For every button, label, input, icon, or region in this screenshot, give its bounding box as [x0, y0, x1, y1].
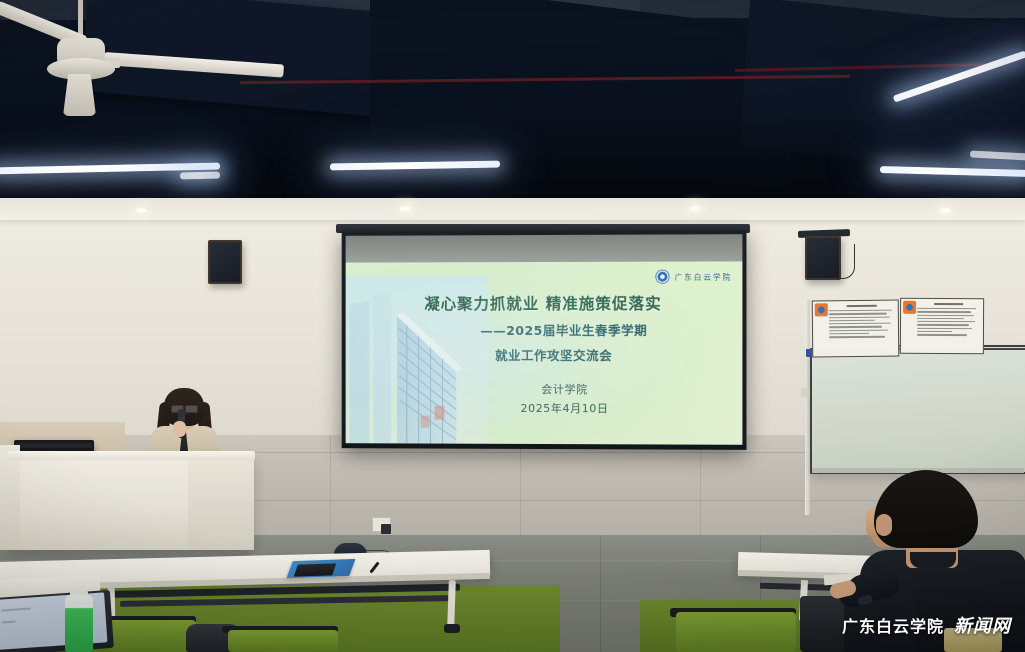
- plug-adapter: [381, 524, 391, 534]
- handheld-microphone-icon: [177, 409, 186, 417]
- ceiling-soffit: [0, 198, 1025, 220]
- slide-logo: 广东白云学院: [655, 269, 732, 283]
- presentation-slide: 广东白云学院 凝心聚力抓就业 精准施策促落实 ——2025届毕业生春季学期 就业…: [346, 261, 743, 445]
- university-emblem-icon: [655, 270, 669, 284]
- official-seal-icon: [815, 303, 828, 316]
- podium-top-surface: [8, 451, 255, 460]
- presenter-hand: [173, 421, 186, 437]
- green-drink-bottle[interactable]: [65, 595, 93, 652]
- slide-subtitle-line1: ——2025届毕业生春季学期: [346, 320, 743, 339]
- photo-scene: 广东白云学院 凝心聚力抓就业 精准施策促落实 ——2025届毕业生春季学期 就业…: [0, 0, 1025, 652]
- tile-seam: [520, 435, 521, 545]
- screen-blank-area: [346, 234, 743, 263]
- green-chair[interactable]: [676, 612, 796, 652]
- whiteboard[interactable]: [810, 348, 1025, 474]
- tabletop-item: [944, 628, 1002, 652]
- attendee-collar: [910, 552, 956, 568]
- recessed-light-icon: [400, 206, 411, 211]
- notice-text-lines: [829, 305, 895, 340]
- ceiling: [0, 0, 1025, 215]
- seated-attendee-figure: [836, 470, 1025, 652]
- speaker-cable: [836, 244, 855, 279]
- eyeglasses-icon: [182, 407, 186, 408]
- attendee-ear: [876, 514, 892, 536]
- floor-seam: [600, 535, 601, 652]
- slide-organization: 会计学院: [367, 381, 742, 398]
- podium-back-panel: [0, 445, 20, 550]
- fluorescent-tube-light: [180, 172, 220, 180]
- slide-text-block: 凝心聚力抓就业 精准施策促落实 ——2025届毕业生春季学期 就业工作攻坚交流会: [346, 292, 743, 365]
- posted-notice-left: [812, 300, 900, 358]
- green-chair[interactable]: [108, 620, 196, 652]
- eyeglasses-icon: [185, 405, 198, 413]
- slide-date: 2025年4月10日: [367, 400, 742, 417]
- slide-subtitle-line2: 就业工作攻坚交流会: [346, 345, 743, 364]
- slide-title: 凝心聚力抓就业 精准施策促落实: [346, 292, 743, 315]
- posted-notice-right: [900, 298, 984, 354]
- slide-logo-text: 广东白云学院: [675, 271, 733, 282]
- recessed-light-icon: [690, 206, 701, 211]
- black-tablet[interactable]: [294, 563, 336, 576]
- tile-seam: [700, 435, 701, 545]
- notice-text-lines: [917, 303, 980, 338]
- official-seal-icon: [903, 301, 916, 314]
- recessed-light-icon: [136, 208, 147, 213]
- recessed-light-icon: [940, 208, 951, 213]
- monitor-bezel: [16, 443, 92, 448]
- speaker-cone-icon: [807, 238, 839, 278]
- speaker-cone-icon: [210, 242, 240, 282]
- green-chair[interactable]: [228, 630, 338, 652]
- slide-footer-block: 会计学院 2025年4月10日: [346, 381, 743, 417]
- table-foot: [444, 624, 460, 633]
- projection-screen[interactable]: 广东白云学院 凝心聚力抓就业 精准施策促落实 ——2025届毕业生春季学期 就业…: [342, 230, 747, 450]
- tile-seam: [330, 435, 331, 545]
- podium-side-panel: [188, 458, 254, 550]
- attendee-hair: [874, 470, 978, 548]
- open-laptop[interactable]: [0, 590, 114, 652]
- wall-speaker-left: [208, 240, 242, 284]
